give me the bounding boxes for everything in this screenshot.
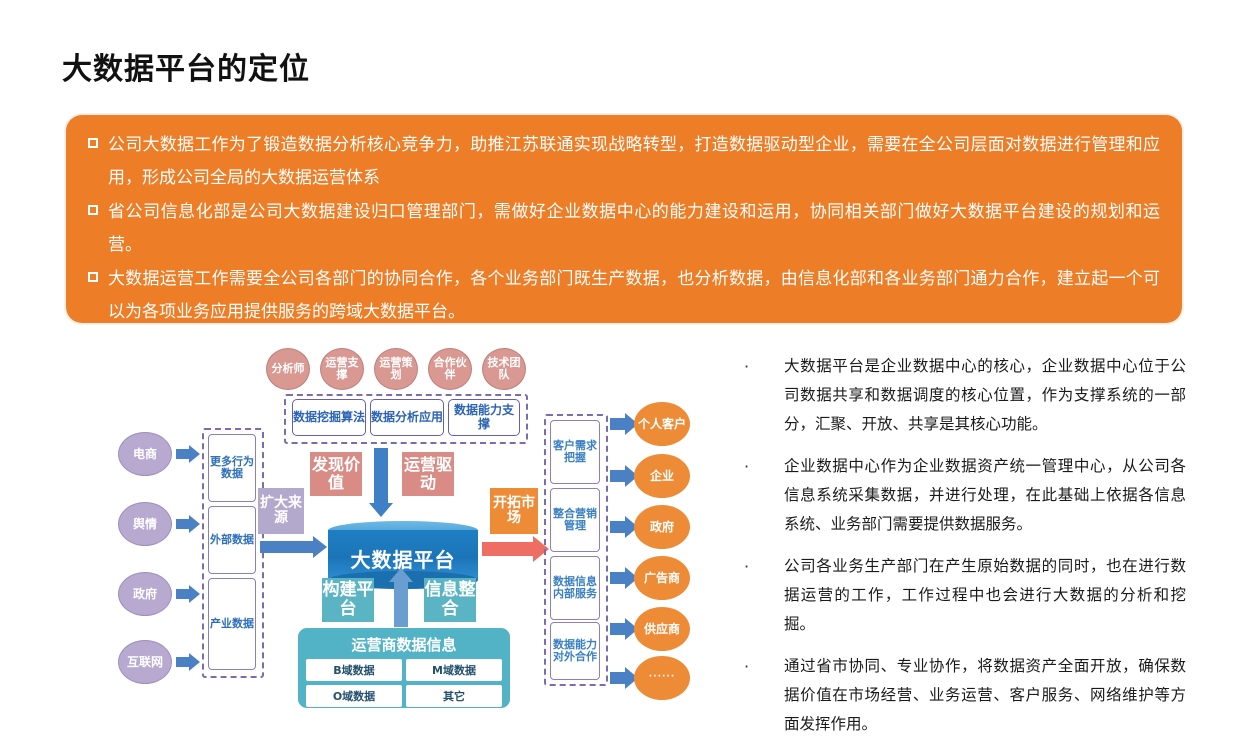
note-text: 企业数据中心作为企业数据资产统一管理中心，从公司各信息系统采集数据，并进行处理，… [784,452,1186,539]
operator-data-title: 运营商数据信息 [306,634,502,655]
source-ellipse-public-opinion: 舆情 [118,502,172,546]
integrate-info-tile: 信息整合 [424,578,476,622]
dot-bullet-icon: · [740,352,784,439]
customer-ellipse-supplier: 供应商 [634,607,690,651]
note-text: 公司各业务生产部门在产生原始数据的同时，也在进行数据运营的工作，工作过程中也会进… [784,552,1186,639]
source-ellipse-internet: 互联网 [118,640,172,684]
platform-diagram: 分析师 运营支撑 运营策划 合作伙伴 技术团队 数据挖掘算法 数据分析应用 数据… [110,340,700,712]
operator-cell-o: O域数据 [306,685,402,707]
callout-item: 大数据运营工作需要全公司各部门的协同合作，各个业务部门既生产数据，也分析数据，由… [88,263,1160,329]
role-badge-ops-support: 运营支撑 [320,348,364,390]
service-box-internal-service: 数据信息内部服务 [550,556,600,620]
note-item: · 通过省市协同、专业协作，将数据资产全面开放，确保数据价值在市场经营、业务运营… [740,652,1186,739]
callout-text: 省公司信息化部是公司大数据建设归口管理部门，需做好企业数据中心的能力建设和运用，… [108,196,1160,262]
callout-text: 公司大数据工作为了锻造数据分析核心竞争力，助推江苏联通实现战略转型，打造数据驱动… [108,129,1160,195]
square-bullet-icon [88,271,108,285]
callout-item: 公司大数据工作为了锻造数据分析核心竞争力，助推江苏联通实现战略转型，打造数据驱动… [88,129,1160,195]
dot-bullet-icon: · [740,452,784,539]
build-platform-tile: 构建平台 [322,578,374,622]
service-box-external-coop: 数据能力对外合作 [550,622,600,680]
slide-root: 大数据平台的定位 公司大数据工作为了锻造数据分析核心竞争力，助推江苏联通实现战略… [0,0,1248,720]
customer-ellipse-individual: 个人客户 [634,402,690,446]
source-ellipse-government: 政府 [118,572,172,616]
source-data-box-external: 外部数据 [208,506,256,574]
callout-list: 公司大数据工作为了锻造数据分析核心竞争力，助推江苏联通实现战略转型，打造数据驱动… [88,129,1160,329]
note-item: · 企业数据中心作为企业数据资产统一管理中心，从公司各信息系统采集数据，并进行处… [740,452,1186,539]
customer-ellipse-enterprise: 企业 [634,454,690,498]
operator-cell-m: M域数据 [406,659,502,681]
source-ellipse-ecommerce: 电商 [118,432,172,476]
square-bullet-icon [88,204,108,218]
role-badge-ops-planning: 运营策划 [374,348,418,390]
capability-box-mining: 数据挖掘算法 [292,399,366,436]
operator-cell-b: B域数据 [306,659,402,681]
dot-bullet-icon: · [740,652,784,739]
role-badge-tech-team: 技术团队 [482,348,526,390]
operator-cell-other: 其它 [406,685,502,707]
source-data-box-behavior: 更多行为数据 [208,434,256,502]
operator-data-panel: 运营商数据信息 B域数据 M域数据 O域数据 其它 [298,628,510,708]
capability-box-support: 数据能力支撑 [448,399,520,436]
role-badge-partner: 合作伙伴 [428,348,472,390]
capability-box-analysis: 数据分析应用 [370,399,444,436]
operator-data-grid: B域数据 M域数据 O域数据 其它 [306,659,502,707]
callout-item: 省公司信息化部是公司大数据建设归口管理部门，需做好企业数据中心的能力建设和运用，… [88,196,1160,262]
service-box-customer-demand: 客户需求把握 [550,420,600,484]
note-text: 大数据平台是企业数据中心的核心，企业数据中心位于公司数据共享和数据调度的核心位置… [784,352,1186,439]
role-badge-analyst: 分析师 [266,348,310,390]
callout-text: 大数据运营工作需要全公司各部门的协同合作，各个业务部门既生产数据，也分析数据，由… [108,263,1160,329]
customer-ellipse-more: ······ [634,656,690,700]
ops-drive-tile: 运营驱动 [402,452,454,496]
summary-callout: 公司大数据工作为了锻造数据分析核心竞争力，助推江苏联通实现战略转型，打造数据驱动… [66,115,1182,323]
notes-column: · 大数据平台是企业数据中心的核心，企业数据中心位于公司数据共享和数据调度的核心… [740,352,1186,752]
discover-value-tile: 发现价值 [310,452,362,496]
expand-source-tile: 扩大来源 [258,488,304,534]
customer-ellipse-advertiser: 广告商 [634,556,690,600]
note-item: · 公司各业务生产部门在产生原始数据的同时，也在进行数据运营的工作，工作过程中也… [740,552,1186,639]
note-item: · 大数据平台是企业数据中心的核心，企业数据中心位于公司数据共享和数据调度的核心… [740,352,1186,439]
customer-ellipse-government: 政府 [634,505,690,549]
service-box-marketing: 整合营销管理 [550,488,600,552]
square-bullet-icon [88,137,108,151]
note-text: 通过省市协同、专业协作，将数据资产全面开放，确保数据价值在市场经营、业务运营、客… [784,652,1186,739]
page-title: 大数据平台的定位 [62,44,310,88]
source-data-box-industry: 产业数据 [208,578,256,670]
dot-bullet-icon: · [740,552,784,639]
open-market-tile: 开拓市场 [490,488,538,534]
